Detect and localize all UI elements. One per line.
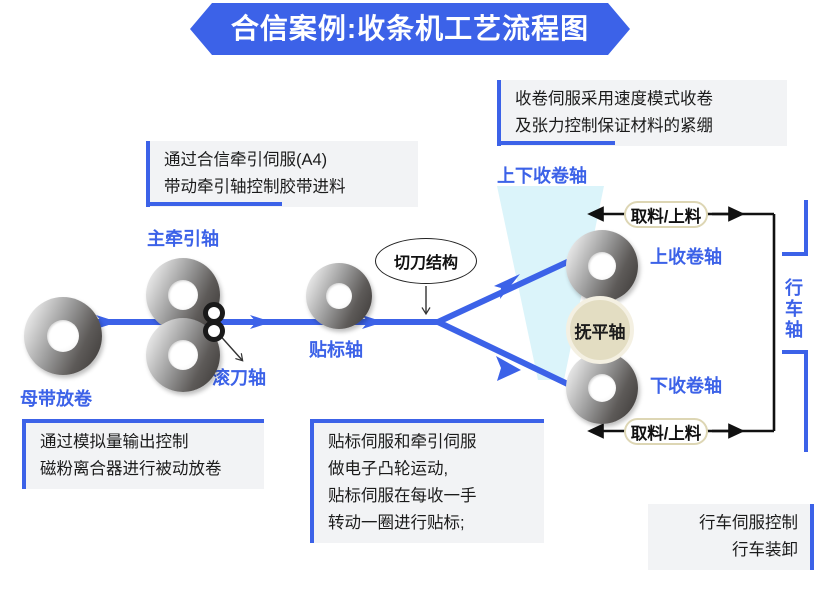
label-mother-tape-unwind: 母带放卷 [20, 390, 92, 408]
note-rewind-underline [497, 141, 615, 145]
roller-icon-upper-rewind [566, 230, 638, 302]
label-labeling-shaft: 贴标轴 [309, 341, 363, 359]
roller-icon-unwind [24, 297, 102, 375]
page-title-banner: 合信案例:收条机工艺流程图 [190, 3, 630, 55]
pickup-load-pill-bottom: 取料/上料 [624, 418, 708, 445]
note-rewind-servo: 收卷伺服采用速度模式收卷 及张力控制保证材料的紧绷 [497, 80, 787, 146]
cutter-structure-label: 切刀结构 [394, 249, 458, 273]
note-traction-underline [146, 202, 282, 206]
page-title: 合信案例:收条机工艺流程图 [231, 15, 589, 43]
cutter-structure-node: 切刀结构 [375, 238, 477, 284]
note-labeling-servo: 贴标伺服和牵引伺服 做电子凸轮运动, 贴标伺服在每收一手 转动一圈进行贴标; [310, 419, 544, 543]
flatten-shaft-node: 抚平轴 [566, 296, 634, 364]
label-hob-shaft: 滚刀轴 [212, 369, 266, 387]
roller-icon-labeling [306, 263, 372, 329]
pickup-load-label-bottom: 取料/上料 [631, 420, 702, 444]
note-traction-servo: 通过合信牵引伺服(A4) 带动牵引轴控制胶带进料 [146, 141, 418, 207]
label-traveling-axis: 行车轴 [784, 278, 802, 341]
label-main-traction-shaft: 主牵引轴 [147, 230, 219, 248]
label-upper-rewind-shaft: 上收卷轴 [650, 248, 722, 266]
note-unwind-control: 通过模拟量输出控制 磁粉离合器进行被动放卷 [22, 419, 264, 489]
pickup-load-label-top: 取料/上料 [631, 203, 702, 227]
pickup-load-pill-top: 取料/上料 [624, 201, 708, 228]
label-upper-lower-rewind-shaft: 上下收卷轴 [497, 167, 587, 185]
note-crane-servo: 行车伺服控制 行车装卸 [648, 504, 814, 570]
cutter-ring-icon-lower [203, 320, 225, 342]
flatten-shaft-label: 抚平轴 [575, 318, 626, 343]
label-lower-rewind-shaft: 下收卷轴 [650, 377, 722, 395]
